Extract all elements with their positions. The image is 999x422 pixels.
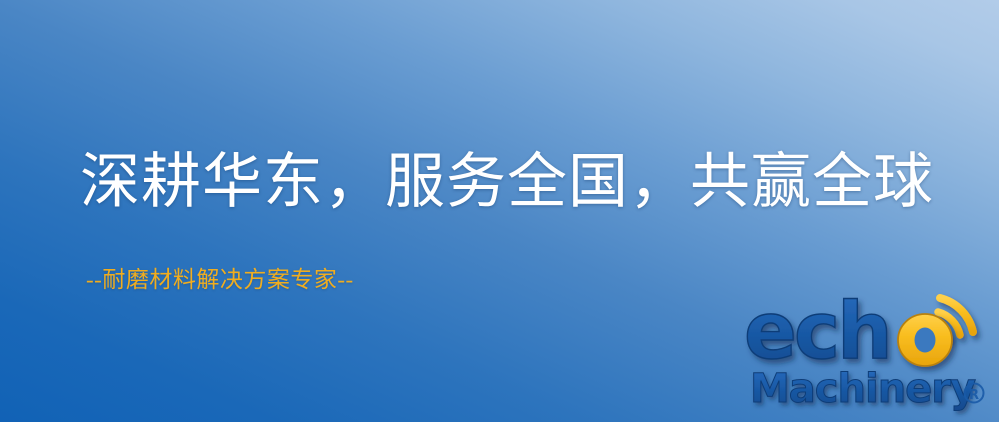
logo-letters-blue: ech	[744, 287, 890, 377]
page-subtitle: --耐磨材料解决方案专家--	[86, 268, 354, 291]
svg-text:Machinery: Machinery	[750, 366, 976, 412]
logo-tagline: Machinery R	[750, 366, 994, 414]
logo-letter-o	[898, 314, 952, 366]
svg-text:R: R	[969, 388, 979, 403]
logo-wordmark: ech	[744, 296, 994, 372]
svg-text:ech: ech	[744, 287, 890, 377]
brand-logo[interactable]: ech	[744, 296, 994, 418]
page-title: 深耕华东，服务全国，共赢全球	[80, 152, 934, 212]
hero-banner: 深耕华东，服务全国，共赢全球 --耐磨材料解决方案专家--	[0, 0, 999, 422]
